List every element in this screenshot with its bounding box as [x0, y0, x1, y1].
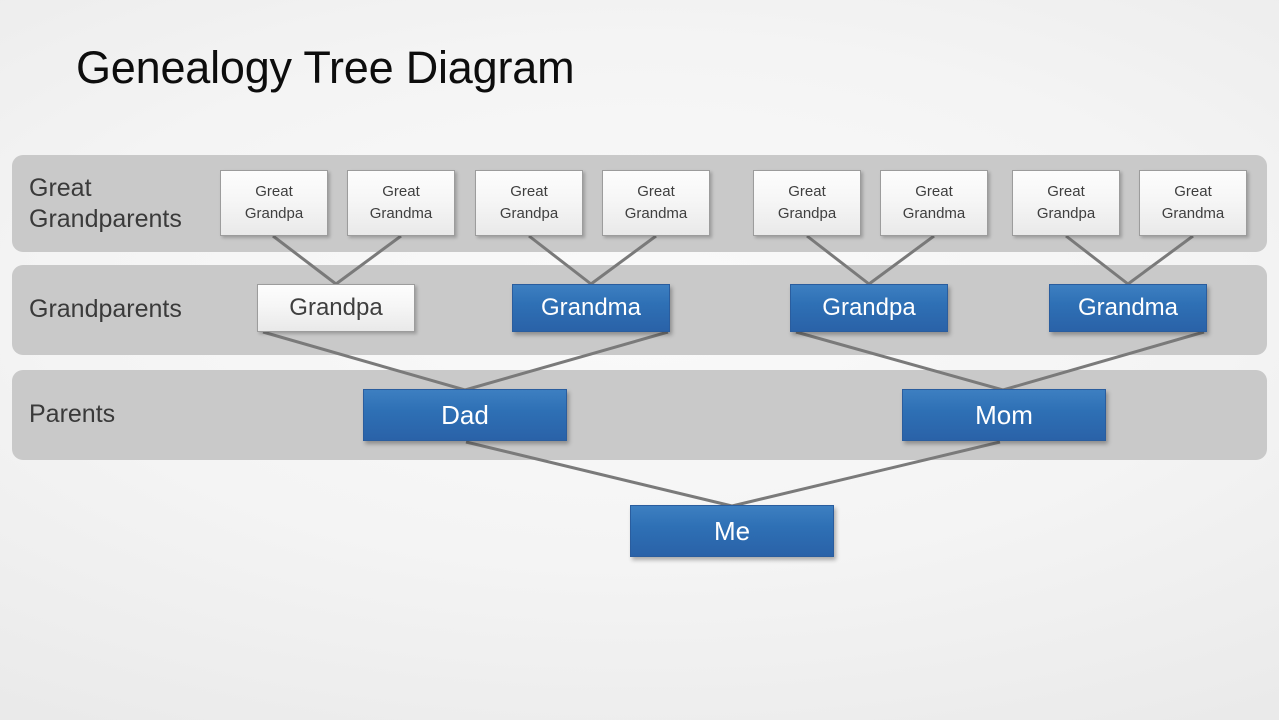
node-grandparent-1[interactable]: Grandpa: [257, 284, 415, 332]
connector-lines: [0, 0, 1279, 720]
band-label-great-grandparents: Great Grandparents: [29, 173, 182, 235]
node-great-grandparent-2[interactable]: Great Grandma: [347, 170, 455, 236]
node-parent-2[interactable]: Mom: [902, 389, 1106, 441]
band-label-parents: Parents: [29, 399, 115, 430]
node-great-grandparent-1[interactable]: Great Grandpa: [220, 170, 328, 236]
node-great-grandparent-5[interactable]: Great Grandpa: [753, 170, 861, 236]
band-label-grandparents: Grandparents: [29, 294, 182, 325]
page-title: Genealogy Tree Diagram: [76, 40, 574, 96]
node-grandparent-3[interactable]: Grandpa: [790, 284, 948, 332]
node-great-grandparent-7[interactable]: Great Grandpa: [1012, 170, 1120, 236]
node-parent-1[interactable]: Dad: [363, 389, 567, 441]
node-great-grandparent-6[interactable]: Great Grandma: [880, 170, 988, 236]
node-self-1[interactable]: Me: [630, 505, 834, 557]
node-great-grandparent-4[interactable]: Great Grandma: [602, 170, 710, 236]
node-great-grandparent-8[interactable]: Great Grandma: [1139, 170, 1247, 236]
node-grandparent-2[interactable]: Grandma: [512, 284, 670, 332]
node-great-grandparent-3[interactable]: Great Grandpa: [475, 170, 583, 236]
node-grandparent-4[interactable]: Grandma: [1049, 284, 1207, 332]
